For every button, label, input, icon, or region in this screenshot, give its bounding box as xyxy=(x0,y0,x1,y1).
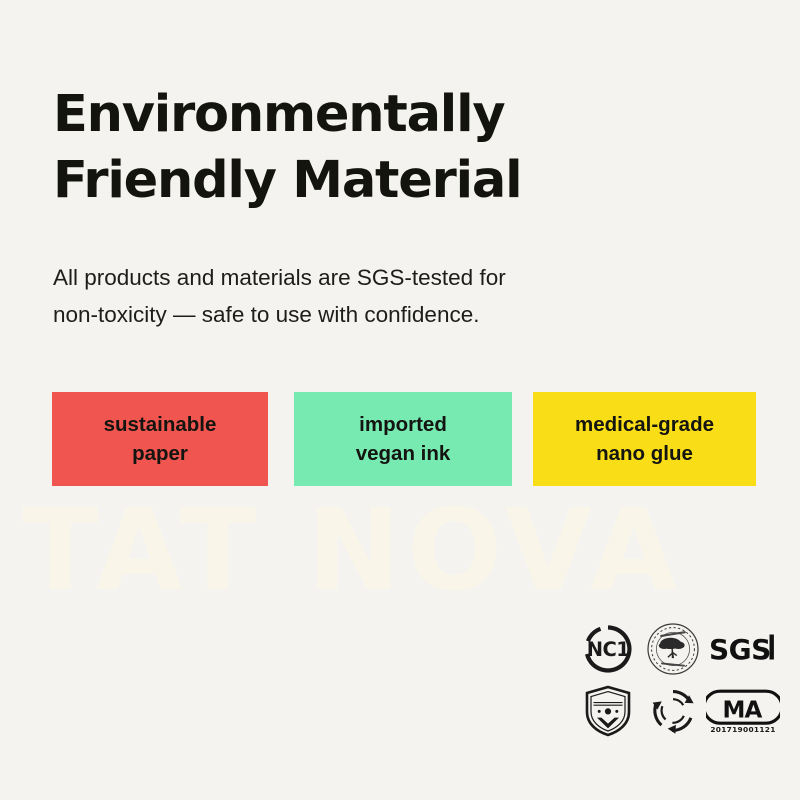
page-subtitle-line-2: non-toxicity — safe to use with confiden… xyxy=(53,296,673,333)
ma-wordmark: MA xyxy=(722,698,762,724)
poster-canvas: TAT NOVA Environmentally Friendly Materi… xyxy=(0,0,800,800)
material-chip-group: sustainable paper imported vegan ink med… xyxy=(52,392,756,486)
sgs-wordmark: SGS xyxy=(709,633,771,666)
nc1-certification-icon: NC1 xyxy=(576,618,640,680)
svg-text:NC1: NC1 xyxy=(587,638,629,661)
recycle-certification-icon xyxy=(640,680,706,742)
page-subtitle-line-1: All products and materials are SGS-teste… xyxy=(53,259,673,296)
ma-certification-icon: MA 201719001121 xyxy=(706,680,780,742)
sgs-certification-icon: SGS xyxy=(706,618,780,680)
chip-label-line-1: sustainable xyxy=(104,410,217,439)
shield-certification-icon xyxy=(576,680,640,742)
chip-label-line-1: imported xyxy=(359,410,447,439)
chip-label-line-1: medical-grade xyxy=(575,410,714,439)
page-subtitle: All products and materials are SGS-teste… xyxy=(53,259,673,333)
forest-seal-certification-icon xyxy=(640,618,706,680)
chip-label-line-2: nano glue xyxy=(596,439,693,468)
chip-label-line-2: paper xyxy=(132,439,188,468)
material-chip-imported-vegan-ink: imported vegan ink xyxy=(294,392,512,486)
material-chip-sustainable-paper: sustainable paper xyxy=(52,392,268,486)
brand-watermark: TAT NOVA xyxy=(22,492,782,610)
certification-badge-grid: NC1 xyxy=(576,618,780,742)
page-title-line-2: Friendly Material xyxy=(53,148,693,214)
page-title-line-1: Environmentally xyxy=(53,82,693,148)
chip-label-line-2: vegan ink xyxy=(356,439,451,468)
page-title: Environmentally Friendly Material xyxy=(53,82,693,214)
ma-certificate-number: 201719001121 xyxy=(710,725,775,734)
material-chip-medical-grade-nano-glue: medical-grade nano glue xyxy=(533,392,756,486)
